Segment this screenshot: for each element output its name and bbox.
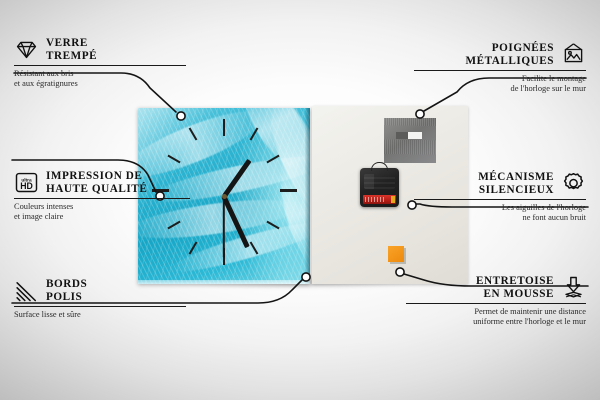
callout-entretoise-en-mousse: ENTRETOISE EN MOUSSE Permet de maintenir… <box>406 275 586 328</box>
callout-divider <box>14 65 186 66</box>
callout-description: Résistant aux bris et aux égratignures <box>14 69 186 89</box>
metal-hanger-plate <box>384 118 436 163</box>
callout-header: ultra HD IMPRESSION DE HAUTE QUALITÉ <box>14 170 190 195</box>
callout-bords-polis: BORDS POLIS Surface lisse et sûre <box>14 278 186 320</box>
hanging-frame-icon <box>561 42 586 67</box>
hanger-slot <box>396 132 422 139</box>
callout-description: Les aiguilles de l'horloge ne font aucun… <box>414 203 586 223</box>
callout-header: VERRE TREMPÉ <box>14 37 186 62</box>
clock-tick <box>223 119 225 136</box>
callout-mecanisme-silencieux: MÉCANISME SILENCIEUX Les aiguilles de l'… <box>414 171 586 224</box>
callout-header: BORDS POLIS <box>14 278 186 303</box>
callout-title: MÉCANISME SILENCIEUX <box>478 171 554 196</box>
mechanism-housing-detail <box>364 174 395 189</box>
callout-header: ENTRETOISE EN MOUSSE <box>406 275 586 300</box>
battery <box>363 195 396 204</box>
ultra-hd-icon-bottom: HD <box>20 181 33 191</box>
callout-divider <box>414 70 586 71</box>
callout-title: POIGNÉES MÉTALLIQUES <box>465 42 554 67</box>
callout-divider <box>414 199 586 200</box>
callout-divider <box>14 306 186 307</box>
gear-icon <box>561 171 586 196</box>
diamond-icon <box>14 37 39 62</box>
callout-title: ENTRETOISE EN MOUSSE <box>476 275 554 300</box>
callout-title: BORDS POLIS <box>46 278 87 303</box>
clock-tick <box>280 189 297 192</box>
clock-mechanism <box>360 168 399 207</box>
callout-description: Permet de maintenir une distance uniform… <box>406 307 586 327</box>
ultra-hd-icon: ultra HD <box>14 170 39 195</box>
foam-spacer <box>388 246 404 262</box>
callout-header: POIGNÉES MÉTALLIQUES <box>414 42 586 67</box>
callout-divider <box>406 303 586 304</box>
callout-description: Facilite le montage de l'horloge sur le … <box>414 74 586 94</box>
callout-impression-haute-qualite: ultra HD IMPRESSION DE HAUTE QUALITÉ Cou… <box>14 170 190 223</box>
callout-divider <box>14 198 190 199</box>
callout-poignees-metalliques: POIGNÉES MÉTALLIQUES Facilite le montage… <box>414 42 586 95</box>
infographic-canvas: VERRE TREMPÉ Résistant aux bris et aux é… <box>0 0 600 400</box>
battery-terminal <box>391 196 395 203</box>
clock-second-hand <box>223 196 225 258</box>
mechanism-hanger-loop <box>371 162 388 171</box>
battery-label <box>365 197 385 202</box>
callout-title: VERRE TREMPÉ <box>46 37 97 62</box>
panel-edge-right <box>305 108 310 284</box>
callout-description: Surface lisse et sûre <box>14 310 186 320</box>
clock-center-cap <box>222 194 227 199</box>
callout-header: MÉCANISME SILENCIEUX <box>414 171 586 196</box>
callout-description: Couleurs intenses et image claire <box>14 202 190 222</box>
down-arrow-pad-icon <box>561 275 586 300</box>
polished-edge-icon <box>14 278 39 303</box>
callout-title: IMPRESSION DE HAUTE QUALITÉ <box>46 170 147 195</box>
callout-verre-trempe: VERRE TREMPÉ Résistant aux bris et aux é… <box>14 37 186 90</box>
